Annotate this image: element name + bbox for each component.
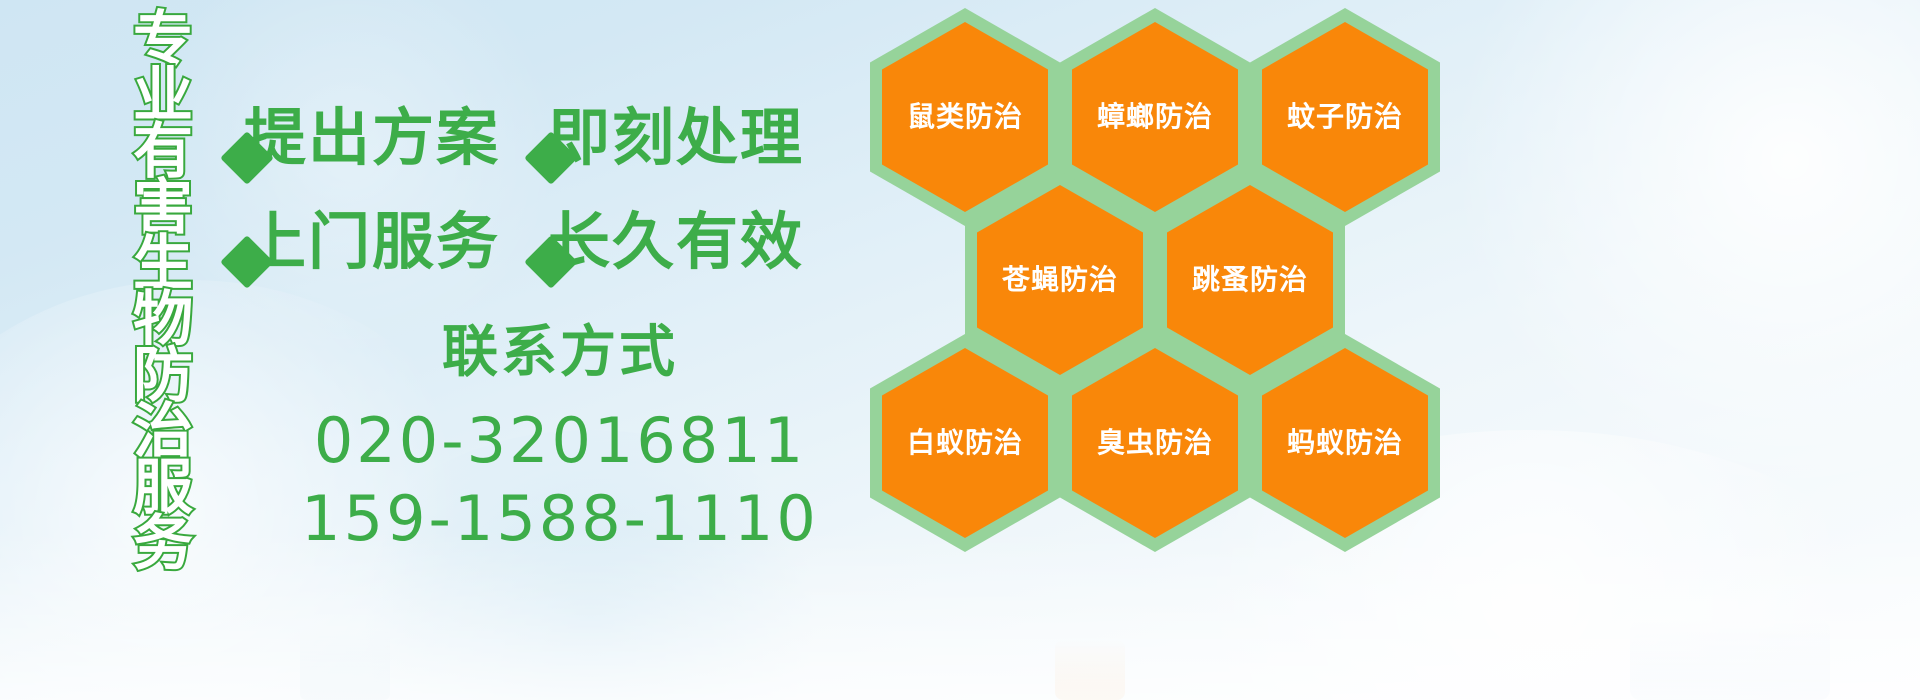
vertical-headline-char-9: 服: [133, 460, 193, 516]
phone-number-mobile[interactable]: 159-1588-1110: [260, 480, 860, 558]
service-label: 蚂蚁防治: [1287, 427, 1403, 459]
feature-label: 提出方案: [244, 105, 500, 171]
service-label: 白蚁防治: [907, 427, 1023, 459]
service-label: 臭虫防治: [1097, 427, 1213, 459]
feature-item-propose-plan: 提出方案: [228, 105, 500, 171]
hex-inner: 白蚁防治: [882, 348, 1048, 538]
hex-inner: 蚊子防治: [1262, 22, 1428, 212]
vertical-headline-char-2: 业: [133, 68, 193, 124]
phone-number-landline[interactable]: 020-32016811: [260, 402, 860, 480]
service-label: 鼠类防治: [907, 101, 1023, 133]
vertical-headline-char-8: 治: [133, 404, 193, 460]
vertical-headline-char-5: 生: [133, 236, 193, 292]
feature-label: 上门服务: [244, 209, 500, 275]
feature-label: 长久有效: [548, 209, 804, 275]
service-label: 蟑螂防治: [1097, 101, 1213, 133]
feature-item-long-lasting: 长久有效: [532, 209, 804, 275]
feature-row-2: 上门服务 长久有效: [228, 190, 868, 294]
vertical-headline-char-10: 务: [133, 516, 193, 572]
feature-item-onsite-service: 上门服务: [228, 209, 500, 275]
hex-inner: 跳蚤防治: [1167, 185, 1333, 375]
service-label: 跳蚤防治: [1192, 264, 1308, 296]
vertical-headline-char-4: 害: [133, 180, 193, 236]
feature-list: 提出方案 即刻处理 上门服务 长久有效: [228, 86, 868, 294]
hex-inner: 臭虫防治: [1072, 348, 1238, 538]
vertical-headline-char-1: 专: [133, 12, 193, 68]
service-label: 蚊子防治: [1287, 101, 1403, 133]
background-shape-right: [1630, 620, 1830, 700]
hex-inner: 苍蝇防治: [977, 185, 1143, 375]
background-shape-center: [1055, 640, 1125, 700]
feature-label: 即刻处理: [548, 105, 804, 171]
hex-inner: 蚂蚁防治: [1262, 348, 1428, 538]
vertical-headline-char-7: 防: [133, 348, 193, 404]
service-label: 苍蝇防治: [1002, 264, 1118, 296]
vertical-headline: 专 业 有 害 生 物 防 治 服 务: [108, 12, 218, 572]
contact-block: 联系方式 020-32016811 159-1588-1110: [260, 318, 860, 558]
pest-control-promo-banner: 专 业 有 害 生 物 防 治 服 务 提出方案 即刻处理 上门服务: [0, 0, 1920, 700]
hex-inner: 鼠类防治: [882, 22, 1048, 212]
contact-heading: 联系方式: [260, 318, 860, 388]
hex-inner: 蟑螂防治: [1072, 22, 1238, 212]
service-hexagon-grid: 鼠类防治 蟑螂防治 蚊子防治 苍蝇防治 跳蚤防治 白蚁防治: [862, 0, 1462, 560]
vertical-headline-char-6: 物: [133, 292, 193, 348]
feature-row-1: 提出方案 即刻处理: [228, 86, 868, 190]
vertical-headline-char-3: 有: [133, 124, 193, 180]
background-shape-left: [300, 630, 390, 700]
background-glow-top-right: [1430, 0, 1920, 480]
feature-item-immediate-action: 即刻处理: [532, 105, 804, 171]
